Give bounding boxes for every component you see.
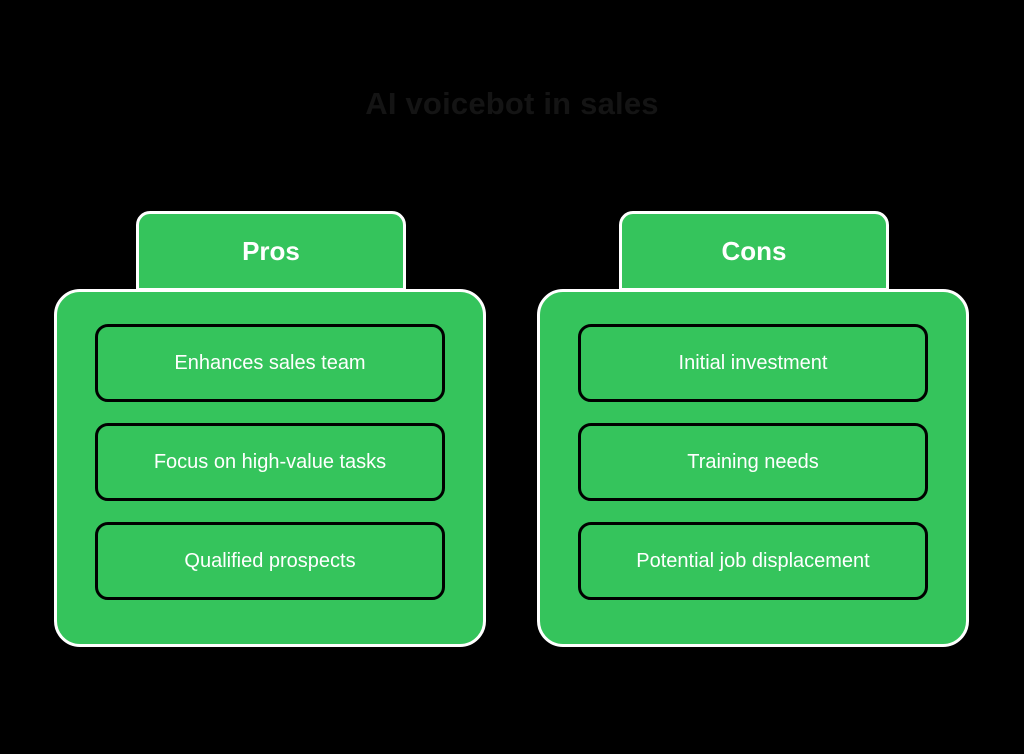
tab-pros[interactable]: Pros [136,211,406,291]
tab-cons-label: Cons [722,236,787,266]
list-item[interactable]: Potential job displacement [578,522,928,600]
list-item-label: Training needs [687,450,819,474]
list-item[interactable]: Enhances sales team [95,324,445,402]
panel-body-pros: Enhances sales team Focus on high-value … [54,289,486,647]
list-item-label: Focus on high-value tasks [154,450,386,474]
list-item[interactable]: Focus on high-value tasks [95,423,445,501]
list-item-label: Potential job displacement [636,549,869,573]
list-item-label: Initial investment [679,351,828,375]
panel-body-cons: Initial investment Training needs Potent… [537,289,969,647]
list-item[interactable]: Initial investment [578,324,928,402]
list-item-label: Enhances sales team [174,351,365,375]
page-title: AI voicebot in sales [0,82,1024,126]
list-item[interactable]: Qualified prospects [95,522,445,600]
diagram-canvas: AI voicebot in sales Enhances sales team… [0,0,1024,754]
tab-cons[interactable]: Cons [619,211,889,291]
tab-pros-label: Pros [242,236,300,266]
list-item-label: Qualified prospects [184,549,355,573]
list-item[interactable]: Training needs [578,423,928,501]
